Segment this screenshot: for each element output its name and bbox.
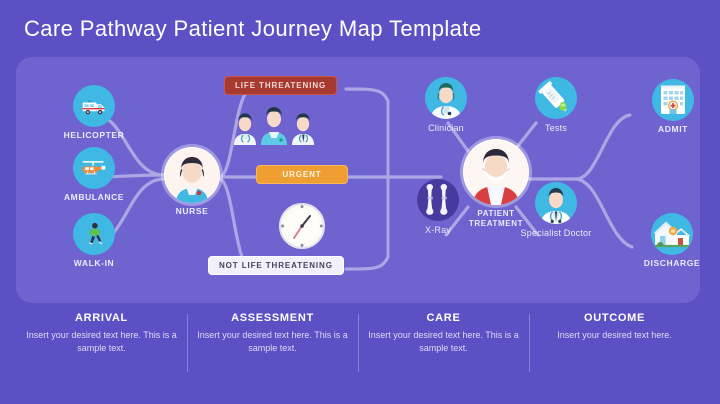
phase-assessment[interactable]: ASSESSMENT Insert your desired text here… xyxy=(187,312,358,392)
female-clinician-glyph xyxy=(425,77,467,119)
walking-person-icon xyxy=(73,213,115,255)
node-specialist-doctor-label: Specialist Doctor xyxy=(514,228,598,239)
specialist-doctor-glyph xyxy=(535,182,577,224)
nurse-avatar-glyph xyxy=(164,147,220,203)
badge-urgent[interactable]: URGENT xyxy=(256,165,348,184)
phase-care-text: Insert your desired text here. This is a… xyxy=(368,329,519,355)
helicopter-icon xyxy=(73,147,115,189)
ambulance-icon-glyph xyxy=(80,92,108,120)
xray-bones-icon xyxy=(417,179,459,221)
node-tests-label: Tests xyxy=(516,123,596,133)
phase-columns: ARRIVAL Insert your desired text here. T… xyxy=(16,312,700,392)
test-tube-syringe-icon xyxy=(535,77,577,119)
phase-arrival[interactable]: ARRIVAL Insert your desired text here. T… xyxy=(16,312,187,392)
phase-assessment-title: ASSESSMENT xyxy=(197,312,348,324)
phase-outcome[interactable]: OUTCOME Insert your desired text here. xyxy=(529,312,700,392)
nurse-avatar-icon xyxy=(164,147,220,203)
node-admit-label: ADMIT xyxy=(630,125,716,135)
node-nurse[interactable]: NURSE xyxy=(164,147,220,217)
test-tube-syringe-glyph xyxy=(535,77,577,119)
walking-person-icon-glyph xyxy=(80,220,108,248)
specialist-doctor-icon xyxy=(535,182,577,224)
ambulance-icon xyxy=(73,85,115,127)
node-discharge-label: DISCHARGE xyxy=(622,259,720,269)
node-tests[interactable]: Tests xyxy=(516,77,596,133)
phase-outcome-title: OUTCOME xyxy=(539,312,690,324)
node-patient-treatment[interactable]: PATIENT TREATMENT xyxy=(463,139,529,229)
helicopter-icon-glyph xyxy=(80,154,108,182)
phase-care-title: CARE xyxy=(368,312,519,324)
patient-with-mask-glyph xyxy=(463,139,529,205)
phase-assessment-text: Insert your desired text here. This is a… xyxy=(197,329,348,355)
female-clinician-icon xyxy=(425,77,467,119)
medical-staff-group-icon xyxy=(228,103,320,150)
patient-with-mask-icon xyxy=(463,139,529,205)
phase-arrival-text: Insert your desired text here. This is a… xyxy=(26,329,177,355)
clock-icon xyxy=(260,200,344,257)
node-ambulance[interactable]: AMBULANCE xyxy=(44,147,144,203)
node-admit[interactable]: ADMIT xyxy=(630,79,716,135)
medical-staff-group-glyph xyxy=(228,103,320,145)
phase-care[interactable]: CARE Insert your desired text here. This… xyxy=(358,312,529,392)
diagram-panel: HELICOPTER AMBULANCE xyxy=(16,57,700,303)
node-discharge[interactable]: DISCHARGE xyxy=(622,213,720,269)
clock-glyph xyxy=(260,200,344,252)
badge-not-life-threatening[interactable]: NOT LIFE THREATENING xyxy=(208,256,344,275)
hospital-building-glyph xyxy=(652,79,694,121)
page-title: Care Pathway Patient Journey Map Templat… xyxy=(24,16,481,42)
house-home-icon xyxy=(651,213,693,255)
phase-arrival-title: ARRIVAL xyxy=(26,312,177,324)
hospital-building-icon xyxy=(652,79,694,121)
xray-bones-glyph xyxy=(417,179,459,221)
badge-life-threatening[interactable]: LIFE THREATENING xyxy=(224,76,337,95)
house-home-glyph xyxy=(651,213,693,255)
node-helicopter-label: HELICOPTER xyxy=(44,131,144,141)
node-nurse-label: NURSE xyxy=(164,207,220,217)
node-clinician[interactable]: Clinician xyxy=(406,77,486,133)
node-helicopter[interactable]: HELICOPTER xyxy=(44,85,144,141)
node-patient-treatment-label: PATIENT TREATMENT xyxy=(463,209,529,229)
phase-outcome-text: Insert your desired text here. xyxy=(555,329,675,342)
node-walk-in-label: WALK-IN xyxy=(44,259,144,269)
node-ambulance-label: AMBULANCE xyxy=(44,193,144,203)
node-walk-in[interactable]: WALK-IN xyxy=(44,213,144,269)
node-clinician-label: Clinician xyxy=(406,123,486,133)
